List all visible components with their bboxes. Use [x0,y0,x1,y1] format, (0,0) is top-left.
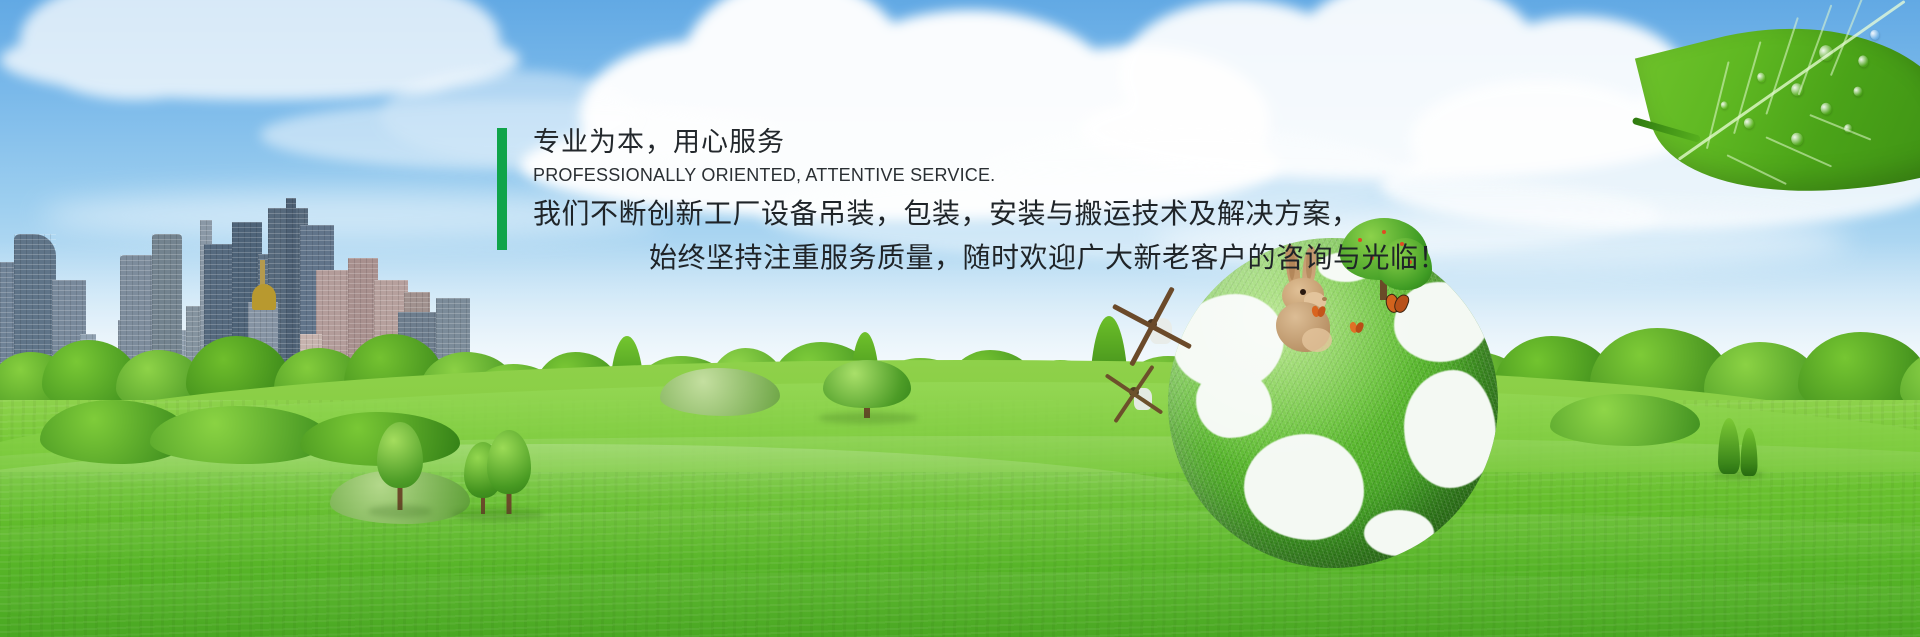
water-droplet [1869,29,1880,41]
globe-landmass-5 [1404,370,1496,488]
broad-tree-mid [822,362,912,418]
page-title: 专业为本，用心服务 [533,126,1453,159]
hero-banner: 专业为本，用心服务 PROFESSIONALLY ORIENTED, ATTEN… [0,0,1920,637]
green-accent-bar [497,128,507,250]
windmill-2 [1108,366,1160,418]
cypress-1 [1718,418,1740,474]
water-droplet [1720,100,1729,109]
page-subtitle: PROFESSIONALLY ORIENTED, ATTENTIVE SERVI… [533,164,1453,186]
broad-tree-shadow [818,412,918,424]
lawn-tree-3 [482,430,536,514]
body-line-2: 始终坚持注重服务质量，随时欢迎广大新老客户的咨询与光临！ [533,236,1453,280]
cypress-2 [1740,428,1757,476]
butterfly-2 [1350,322,1364,334]
butterfly-3 [1386,294,1408,312]
cypress-shadow [1714,470,1764,479]
water-droplet [1743,117,1755,130]
leaf-blade [1635,0,1920,238]
windmill-1 [1120,292,1184,356]
leaf-vein [1765,17,1798,115]
hero-body-text: 我们不断创新工厂设备吊装，包装，安装与搬运技术及解决方案， 始终坚持注重服务质量… [533,192,1453,280]
globe-landmass-7 [1364,510,1434,556]
lawn-tree-3-shadow [452,508,544,521]
water-droplet [1819,101,1833,115]
water-droplet [1756,72,1766,84]
leaf-vein [1830,0,1863,76]
water-droplet [1857,54,1870,68]
green-globe [1168,238,1498,568]
leaf-vein [1809,114,1871,141]
lawn-tree-1 [372,424,428,510]
leaf-decoration [1626,0,1920,206]
body-line-1: 我们不断创新工厂设备吊装，包装，安装与搬运技术及解决方案， [533,192,1453,236]
water-droplet [1853,86,1864,98]
leaf-vein [1726,154,1786,185]
water-droplet [1790,131,1805,147]
lawn-tree-1-shadow [368,505,432,518]
hero-headings: 专业为本，用心服务 PROFESSIONALLY ORIENTED, ATTEN… [533,126,1453,186]
butterfly-1 [1312,306,1326,318]
